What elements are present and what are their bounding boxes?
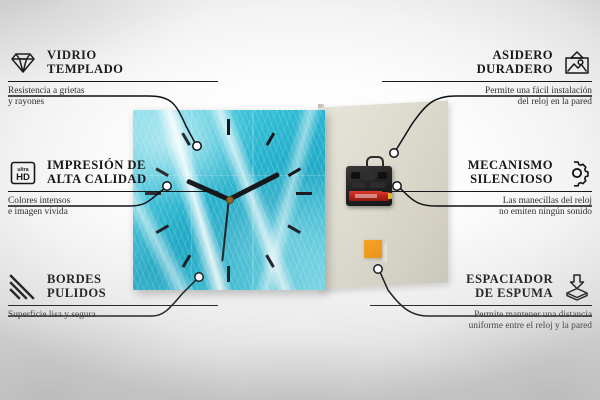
callout-title: ASIDERO DURADERO [477, 49, 553, 76]
gear-icon [562, 158, 592, 188]
callout-header: BORDES PULIDOS [8, 272, 218, 302]
diamond-icon [8, 48, 38, 78]
callout-title: MECANISMO SILENCIOSO [468, 159, 553, 186]
callout-description-line1: Superficie lisa y segura [8, 310, 218, 321]
callout-asidero-duradero[interactable]: ASIDERO DURADERO Permite una fácil insta… [382, 48, 592, 109]
callout-header: VIDRIO TEMPLADO [8, 48, 218, 78]
callout-divider [382, 191, 592, 192]
callout-vidrio-templado[interactable]: VIDRIO TEMPLADO Resistencia a grietas y … [8, 48, 218, 109]
callout-mecanismo-silencioso[interactable]: MECANISMO SILENCIOSO Las manecillas del … [382, 158, 592, 219]
foam-spacer-side [382, 242, 387, 262]
svg-text:HD: HD [16, 172, 30, 183]
mechanism-detail [363, 171, 375, 180]
callout-description-line1: Permite una fácil instalación [382, 86, 592, 97]
callout-description-line1: Las manecillas del reloj [382, 196, 592, 207]
callout-title: BORDES PULIDOS [47, 273, 106, 300]
callout-divider [8, 191, 218, 192]
foam-spacer [364, 240, 382, 258]
callout-description-line2: e imagen vívida [8, 207, 218, 218]
battery-label [355, 194, 377, 198]
callout-espaciador-de-espuma[interactable]: ESPACIADOR DE ESPUMA Permite mantener un… [370, 272, 592, 333]
callout-header: ESPACIADOR DE ESPUMA [370, 272, 592, 302]
diagonal-lines-icon [8, 272, 38, 302]
hanging-frame-icon [562, 48, 592, 78]
press-down-layers-icon [562, 272, 592, 302]
callout-divider [8, 81, 218, 82]
callout-description-line2: uniforme entre el reloj y la pared [370, 321, 592, 332]
callout-description-line2: del reloj en la pared [382, 97, 592, 108]
callout-divider [370, 305, 592, 306]
callout-divider [8, 305, 218, 306]
callout-description-line1: Permite mantener una distancia [370, 310, 592, 321]
callout-header: MECANISMO SILENCIOSO [382, 158, 592, 188]
ultra-hd-icon: ultra HD [8, 158, 38, 188]
callout-impresion-alta-calidad[interactable]: ultra HD IMPRESIÓN DE ALTA CALIDAD Color… [8, 158, 218, 219]
infographic-canvas: VIDRIO TEMPLADO Resistencia a grietas y … [0, 0, 600, 400]
callout-header: ASIDERO DURADERO [382, 48, 592, 78]
callout-description-line2: no emiten ningún sonido [382, 207, 592, 218]
callout-header: ultra HD IMPRESIÓN DE ALTA CALIDAD [8, 158, 218, 188]
callout-title: VIDRIO TEMPLADO [47, 49, 123, 76]
callout-description-line2: y rayones [8, 97, 218, 108]
callout-divider [382, 81, 592, 82]
callout-title: IMPRESIÓN DE ALTA CALIDAD [47, 159, 147, 186]
callout-bordes-pulidos[interactable]: BORDES PULIDOS Superficie lisa y segura [8, 272, 218, 321]
callout-description-line1: Colores intensos [8, 196, 218, 207]
mechanism-detail [351, 172, 360, 179]
callout-description-line1: Resistencia a grietas [8, 86, 218, 97]
mechanism-detail [352, 182, 365, 188]
callout-title: ESPACIADOR DE ESPUMA [466, 273, 553, 300]
